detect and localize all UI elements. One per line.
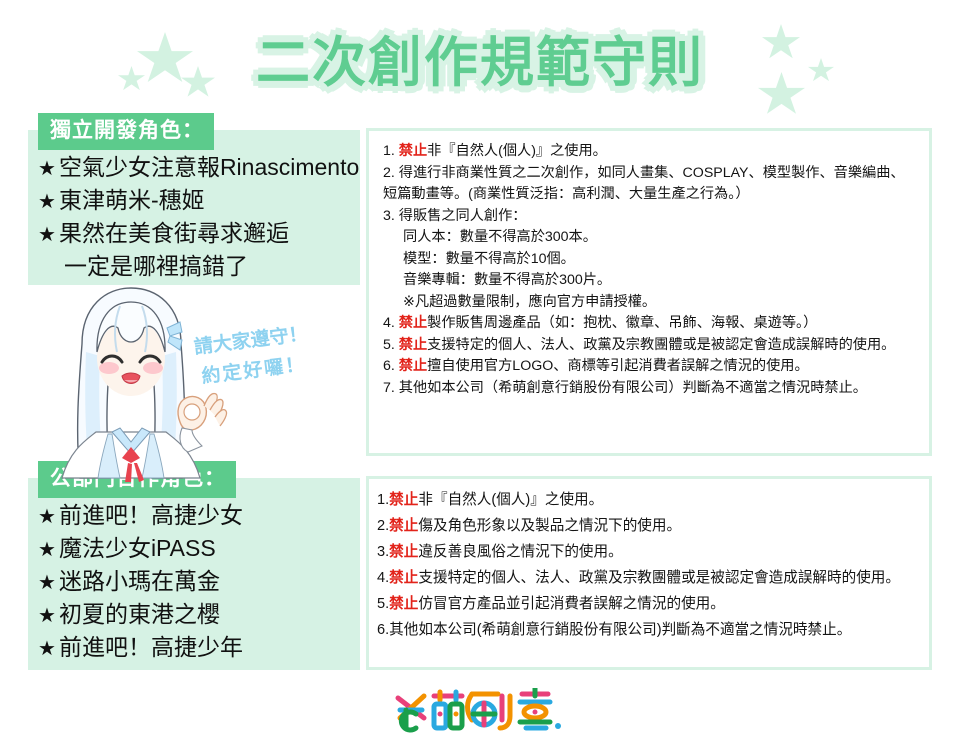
bullet-star-icon: ★	[38, 638, 56, 660]
list-item: ★初夏的東港之櫻	[38, 599, 243, 632]
rule-line: 音樂專輯：數量不得高於300片。	[383, 270, 917, 292]
rule-text: 非『自然人(個人)』之使用。	[427, 143, 607, 159]
rule-number: 4.	[377, 570, 389, 586]
independent-rules-panel: 1. 禁止非『自然人(個人)』之使用。2. 得進行非商業性質之二次創作，如同人畫…	[366, 128, 932, 456]
character-name: 空氣少女注意報Rinascimento	[59, 154, 359, 180]
rule-line: 1. 禁止非『自然人(個人)』之使用。	[383, 141, 917, 163]
rule-number: 7.	[383, 380, 399, 396]
rule-text: 得販售之同人創作：	[399, 208, 527, 224]
prohibition-keyword: 禁止	[389, 544, 418, 560]
prohibition-keyword: 禁止	[399, 358, 427, 374]
prohibition-keyword: 禁止	[389, 492, 418, 508]
rule-text: 得進行非商業性質之二次創作，如同人畫集、COSPLAY、模型製作、音樂編曲、短篇…	[383, 165, 905, 203]
character-name: 東津萌米-穗姬	[59, 187, 205, 213]
rule-line: 5. 禁止支援特定的個人、法人、政黨及宗教團體或是被認定會造成誤解時的使用。	[383, 335, 917, 357]
prohibition-keyword: 禁止	[389, 518, 418, 534]
rule-text: 其他如本公司（希萌創意行銷股份有限公司）判斷為不適當之情況時禁止。	[399, 380, 867, 396]
page-title: 二次創作規範守則	[0, 18, 960, 97]
rule-line: 1.禁止非『自然人(個人)』之使用。	[377, 487, 919, 513]
bullet-star-icon: ★	[38, 224, 56, 246]
list-item: ★前進吧！高捷少女	[38, 500, 243, 533]
rule-line: 同人本：數量不得高於300本。	[383, 227, 917, 249]
list-item: ★東津萌米-穗姬	[38, 185, 359, 218]
character-name-line2: 一定是哪裡搞錯了	[38, 251, 359, 282]
rule-number: 5.	[377, 596, 389, 612]
rule-text: 模型：數量不得高於10個。	[403, 251, 575, 267]
rule-line: 6. 禁止擅自使用官方LOGO、商標等引起消費者誤解之情況的使用。	[383, 356, 917, 378]
rule-number: 5.	[383, 337, 399, 353]
character-name: 迷路小瑪在萬金	[59, 568, 220, 594]
character-name: 初夏的東港之櫻	[59, 601, 220, 627]
independent-characters-badge: 獨立開發角色：	[38, 113, 214, 150]
rule-text: 音樂專輯：數量不得高於300片。	[403, 272, 611, 288]
government-rules-text: 1.禁止非『自然人(個人)』之使用。2.禁止傷及角色形象以及製品之情況下的使用。…	[369, 479, 929, 651]
rule-number: 3.	[377, 544, 389, 560]
rule-number: 1.	[383, 143, 399, 159]
rule-text: 擅自使用官方LOGO、商標等引起消費者誤解之情況的使用。	[427, 358, 809, 374]
rule-text: 支援特定的個人、法人、政黨及宗教團體或是被認定會造成誤解時的使用。	[418, 570, 900, 586]
title-band: 二次創作規範守則	[0, 0, 960, 112]
government-characters-list: ★前進吧！高捷少女 ★魔法少女iPASS ★迷路小瑪在萬金 ★初夏的東港之櫻 ★…	[38, 500, 243, 665]
bullet-star-icon: ★	[38, 572, 56, 594]
rule-line: 6.其他如本公司(希萌創意行銷股份有限公司)判斷為不適當之情況時禁止。	[377, 617, 919, 643]
rule-line: 4. 禁止製作販售周邊產品（如：抱枕、徽章、吊飾、海報、桌遊等。）	[383, 313, 917, 335]
prohibition-keyword: 禁止	[399, 315, 427, 331]
rule-text: 同人本：數量不得高於300本。	[403, 229, 597, 245]
rule-line: 3.禁止違反善良風俗之情況下的使用。	[377, 539, 919, 565]
rule-text: 違反善良風俗之情況下的使用。	[418, 544, 622, 560]
rule-number: 4.	[383, 315, 399, 331]
bullet-star-icon: ★	[38, 506, 56, 528]
prohibition-keyword: 禁止	[399, 143, 427, 159]
bullet-star-icon: ★	[38, 605, 56, 627]
rule-number: 1.	[377, 492, 389, 508]
prohibition-keyword: 禁止	[389, 596, 418, 612]
rule-text: 其他如本公司(希萌創意行銷股份有限公司)判斷為不適當之情況時禁止。	[389, 622, 851, 638]
rule-line: 7. 其他如本公司（希萌創意行銷股份有限公司）判斷為不適當之情況時禁止。	[383, 378, 917, 400]
rule-line: 4.禁止支援特定的個人、法人、政黨及宗教團體或是被認定會造成誤解時的使用。	[377, 565, 919, 591]
rule-text: 仿冒官方產品並引起消費者誤解之情況的使用。	[418, 596, 724, 612]
independent-characters-list: ★空氣少女注意報Rinascimento ★東津萌米-穗姬 ★果然在美食街尋求邂…	[38, 152, 359, 282]
rule-line: ※凡超過數量限制，應向官方申請授權。	[383, 292, 917, 314]
bullet-star-icon: ★	[38, 539, 56, 561]
character-name: 魔法少女iPASS	[59, 535, 216, 561]
list-item: ★魔法少女iPASS	[38, 533, 243, 566]
rule-line: 模型：數量不得高於10個。	[383, 249, 917, 271]
rule-text: 支援特定的個人、法人、政黨及宗教團體或是被認定會造成誤解時的使用。	[427, 337, 895, 353]
list-item: ★空氣少女注意報Rinascimento	[38, 152, 359, 185]
ok-hand-gesture	[178, 394, 227, 453]
rule-line: 5.禁止仿冒官方產品並引起消費者誤解之情況的使用。	[377, 591, 919, 617]
rule-number: 6.	[383, 358, 399, 374]
rule-number: 2.	[377, 518, 389, 534]
rule-text: ※凡超過數量限制，應向官方申請授權。	[403, 294, 656, 310]
rule-line: 2.禁止傷及角色形象以及製品之情況下的使用。	[377, 513, 919, 539]
prohibition-keyword: 禁止	[389, 570, 418, 586]
character-name: 前進吧！高捷少年	[59, 634, 243, 660]
rule-number: 6.	[377, 622, 389, 638]
prohibition-keyword: 禁止	[399, 337, 427, 353]
rule-text: 傷及角色形象以及製品之情況下的使用。	[418, 518, 681, 534]
rule-line: 2. 得進行非商業性質之二次創作，如同人畫集、COSPLAY、模型製作、音樂編曲…	[383, 163, 917, 206]
character-name: 果然在美食街尋求邂逅	[59, 220, 289, 246]
bullet-star-icon: ★	[38, 158, 56, 180]
character-name: 前進吧！高捷少女	[59, 502, 243, 528]
list-item: ★果然在美食街尋求邂逅 一定是哪裡搞錯了	[38, 218, 359, 282]
bullet-star-icon: ★	[38, 191, 56, 213]
company-logo	[0, 688, 960, 739]
ximeng-creative-logo-svg	[392, 688, 568, 734]
list-item: ★迷路小瑪在萬金	[38, 566, 243, 599]
rule-number: 2.	[383, 165, 399, 181]
independent-rules-text: 1. 禁止非『自然人(個人)』之使用。2. 得進行非商業性質之二次創作，如同人畫…	[369, 131, 929, 407]
list-item: ★前進吧！高捷少年	[38, 632, 243, 665]
rule-line: 3. 得販售之同人創作：	[383, 206, 917, 228]
government-rules-panel: 1.禁止非『自然人(個人)』之使用。2.禁止傷及角色形象以及製品之情況下的使用。…	[366, 476, 932, 670]
rule-text: 製作販售周邊產品（如：抱枕、徽章、吊飾、海報、桌遊等。）	[427, 315, 817, 331]
rule-number: 3.	[383, 208, 399, 224]
rule-text: 非『自然人(個人)』之使用。	[418, 492, 603, 508]
